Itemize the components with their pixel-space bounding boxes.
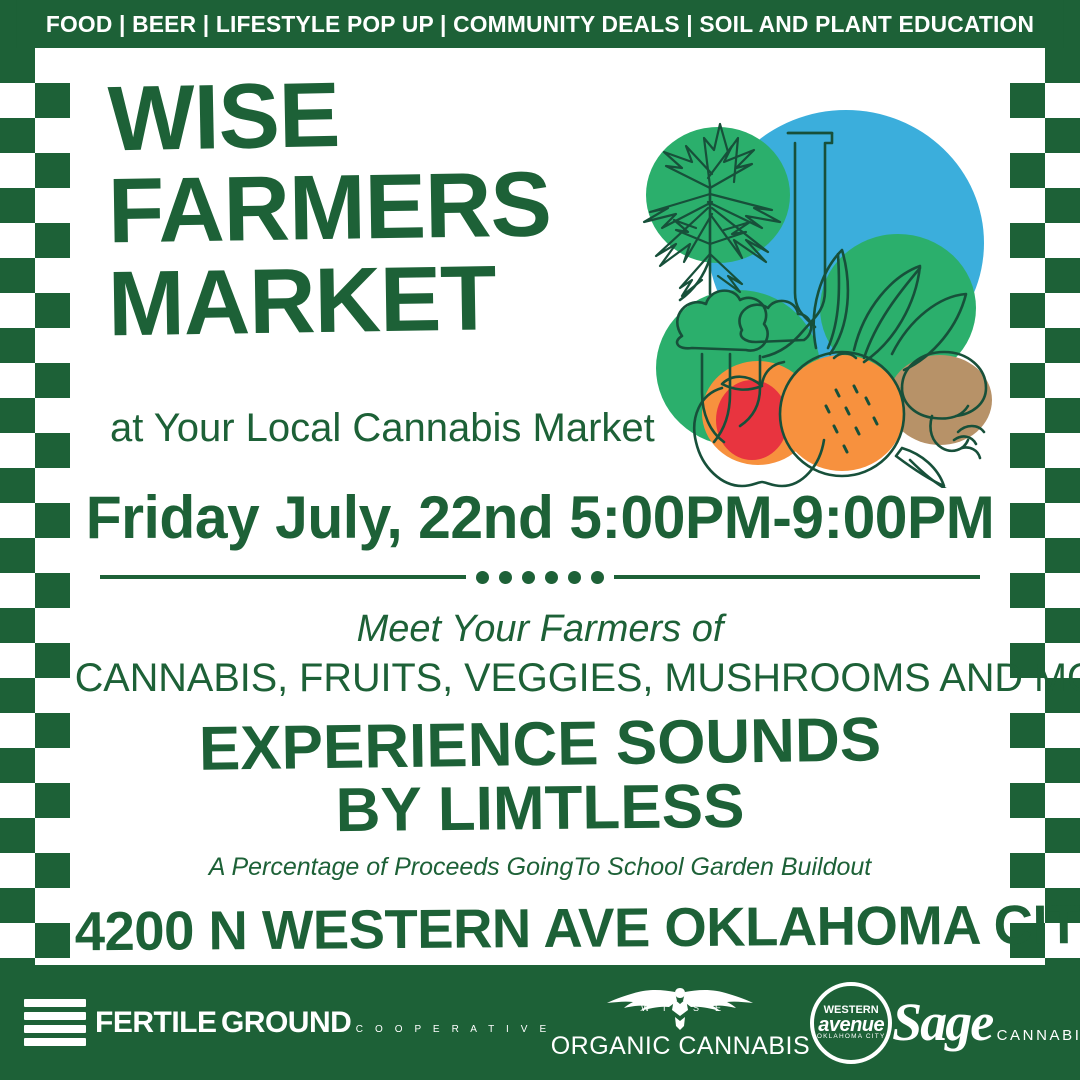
logo-fertile-ground[interactable]: FERTILE GROUND C O O P E R A T I V E <box>24 999 551 1046</box>
wise-bird-icon: W I S E <box>605 984 755 1030</box>
music-act-heading: EXPERIENCE SOUNDS BY LIMTLESS <box>70 713 1010 841</box>
headline-line-3: MARKET <box>107 252 668 350</box>
divider-dot <box>545 571 558 584</box>
divider-rule-right <box>614 575 980 579</box>
wise-letter-s: S <box>693 1003 700 1013</box>
wise-letter-e: E <box>715 1003 722 1013</box>
event-date-time: Friday July, 22nd 5:00PM-9:00PM <box>79 483 1000 552</box>
proceeds-note: A Percentage of Proceeds GoingTo School … <box>70 853 1010 882</box>
sage-wordmark: Sage <box>892 992 992 1052</box>
decorative-divider <box>100 568 980 586</box>
poster-root: FOOD | BEER | LIFESTYLE POP UP | COMMUNI… <box>0 0 1080 1080</box>
fertile-ground-line-2: GROUND <box>221 1006 351 1039</box>
wise-letter-i: I <box>663 1003 667 1013</box>
checkerboard-border-right <box>1010 48 1080 965</box>
sounds-line-1: EXPERIENCE SOUNDS <box>70 706 1011 783</box>
logo-western-avenue[interactable]: WESTERN avenue OKLAHOMA CITY <box>810 982 892 1064</box>
fertile-ground-wordmark: FERTILE GROUND C O O P E R A T I V E <box>95 1009 551 1037</box>
logo-wise-organic-cannabis[interactable]: W I S E ORGANIC CANNABIS <box>551 984 810 1061</box>
wise-letter-w: W <box>641 1003 651 1013</box>
divider-rule-left <box>100 575 466 579</box>
sounds-line-2: BY LIMTLESS <box>70 772 1011 846</box>
divider-dot <box>568 571 581 584</box>
top-banner-text: FOOD | BEER | LIFESTYLE POP UP | COMMUNI… <box>46 11 1034 38</box>
divider-dot <box>499 571 512 584</box>
divider-dots <box>476 571 604 584</box>
wise-label: ORGANIC CANNABIS <box>551 1032 810 1060</box>
venue-address: 4200 N WESTERN AVE OKLAHOMA CITY OK <box>74 893 1005 964</box>
divider-dot <box>522 571 535 584</box>
page-title: WISE FARMERS MARKET <box>108 70 668 346</box>
divider-dot <box>476 571 489 584</box>
sage-label: CANNABIS MARKET <box>997 1027 1080 1044</box>
fertile-ground-line-1: FERTILE <box>95 1006 217 1039</box>
meet-farmers-label: Meet Your Farmers of <box>70 608 1010 651</box>
western-avenue-circle-icon: WESTERN avenue OKLAHOMA CITY <box>810 982 892 1064</box>
fertile-ground-bars-icon <box>24 999 86 1046</box>
western-avenue-line-3: OKLAHOMA CITY <box>817 1034 886 1041</box>
logo-sage-cannabis-market[interactable]: Sage CANNABIS MARKET <box>892 998 1080 1047</box>
fertile-ground-line-3: C O O P E R A T I V E <box>356 1024 551 1035</box>
poster-canvas: WISE FARMERS MARKET at Your Local Cannab… <box>70 48 1010 965</box>
divider-dot <box>591 571 604 584</box>
produce-list: CANNABIS, FRUITS, VEGGIES, MUSHROOMS AND… <box>75 656 1006 701</box>
subtitle: at Your Local Cannabis Market <box>110 408 730 448</box>
headline-line-2: FARMERS <box>107 159 668 257</box>
western-avenue-line-2: avenue <box>818 1015 884 1035</box>
top-banner: FOOD | BEER | LIFESTYLE POP UP | COMMUNI… <box>16 0 1064 48</box>
headline-line-1: WISE <box>107 65 669 165</box>
sponsor-logo-bar: FERTILE GROUND C O O P E R A T I V E W I… <box>0 965 1080 1080</box>
checkerboard-border-left <box>0 48 70 965</box>
